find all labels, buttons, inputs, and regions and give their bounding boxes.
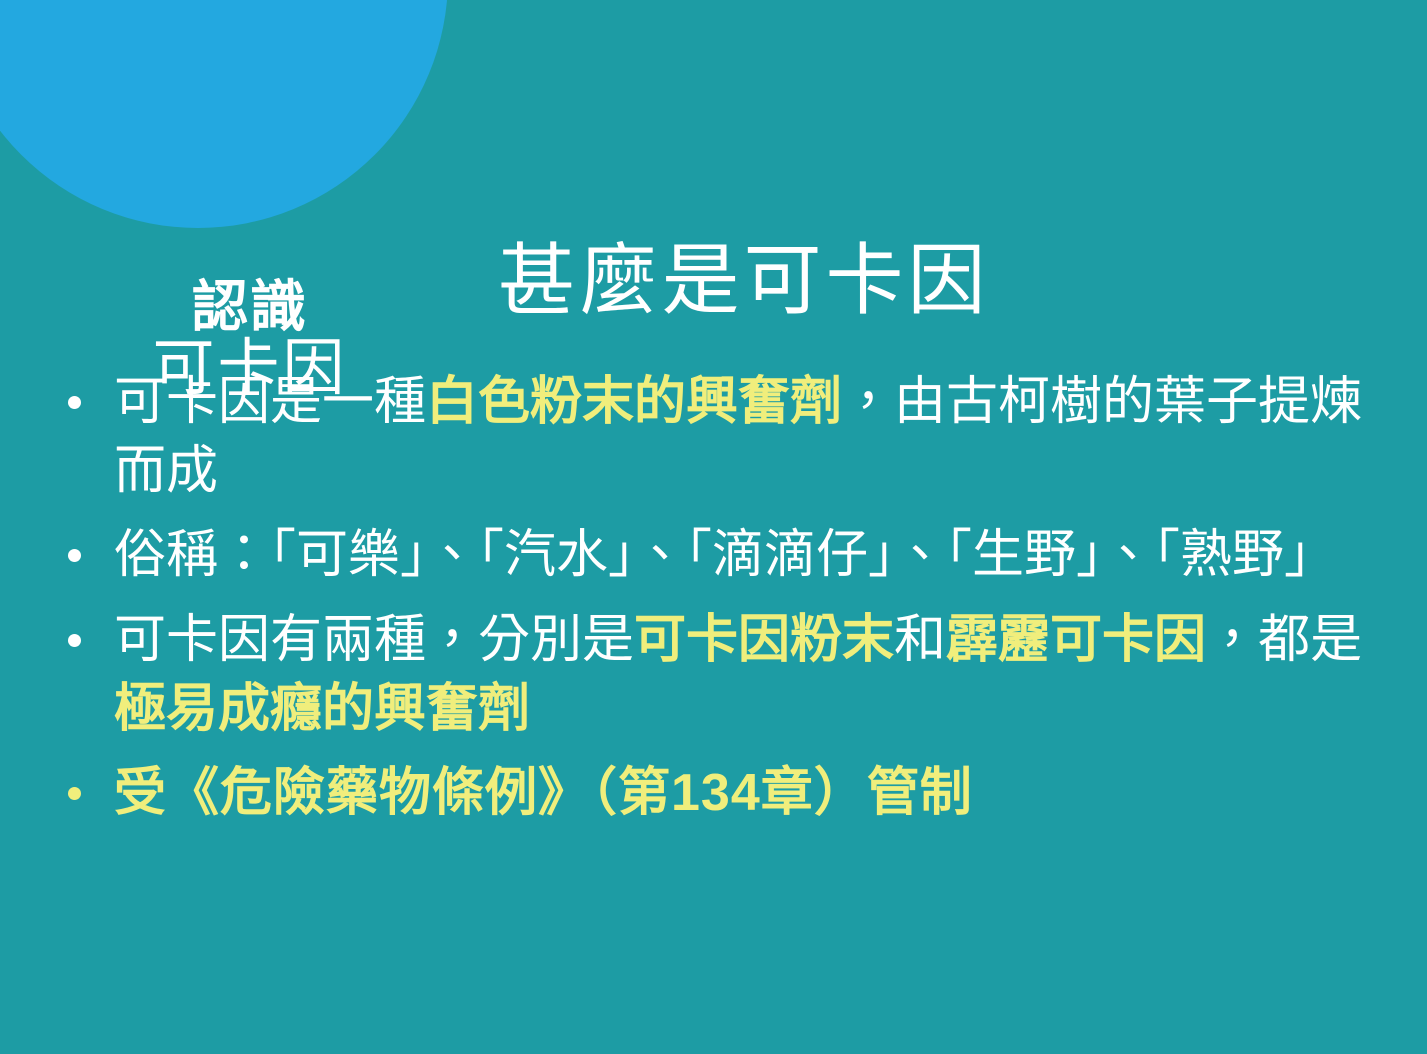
bullet-dot-icon (68, 634, 81, 647)
list-item: 受《危險藥物條例》（第134章）管制 (58, 759, 1388, 828)
list-item-text: 俗稱：「可樂」、「汽水」、「滴滴仔」、「生野」、「熟野」 (114, 526, 1336, 584)
text-segment: 白色粉末的興奮劑 (426, 373, 842, 431)
text-segment: 俗稱：「可樂」、「汽水」、「滴滴仔」、「生野」、「熟野」 (114, 526, 1336, 584)
text-segment: 可卡因粉末 (634, 611, 894, 669)
list-item-text: 可卡因有兩種，分別是可卡因粉末和霹靂可卡因，都是極易成癮的興奮劑 (114, 611, 1362, 738)
text-segment: 受《危險藥物條例》（第134章）管制 (114, 764, 973, 822)
list-item: 可卡因是一種白色粉末的興奮劑，由古柯樹的葉子提煉而成 (58, 368, 1388, 505)
slide: 認識 可卡因 甚麼是可卡因 可卡因是一種白色粉末的興奮劑，由古柯樹的葉子提煉而成… (0, 0, 1427, 1054)
bullet-dot-icon (68, 787, 81, 800)
text-segment: 霹靂可卡因 (946, 611, 1206, 669)
list-item-text: 可卡因是一種白色粉末的興奮劑，由古柯樹的葉子提煉而成 (114, 373, 1362, 500)
list-item: 可卡因有兩種，分別是可卡因粉末和霹靂可卡因，都是極易成癮的興奮劑 (58, 606, 1388, 743)
list-item-text: 受《危險藥物條例》（第134章）管制 (114, 764, 973, 822)
text-segment: 可卡因是一種 (114, 373, 426, 431)
text-segment: ，都是 (1206, 611, 1362, 669)
bullet-dot-icon (68, 549, 81, 562)
list-item: 俗稱：「可樂」、「汽水」、「滴滴仔」、「生野」、「熟野」 (58, 521, 1388, 590)
text-segment: 極易成癮的興奮劑 (114, 680, 530, 738)
corner-badge-shape (0, 0, 448, 228)
bullet-list: 可卡因是一種白色粉末的興奮劑，由古柯樹的葉子提煉而成 俗稱：「可樂」、「汽水」、… (58, 368, 1388, 844)
bullet-dot-icon (68, 396, 81, 409)
text-segment: 和 (894, 611, 946, 669)
text-segment: 可卡因有兩種，分別是 (114, 611, 634, 669)
page-title: 甚麼是可卡因 (0, 238, 1427, 324)
